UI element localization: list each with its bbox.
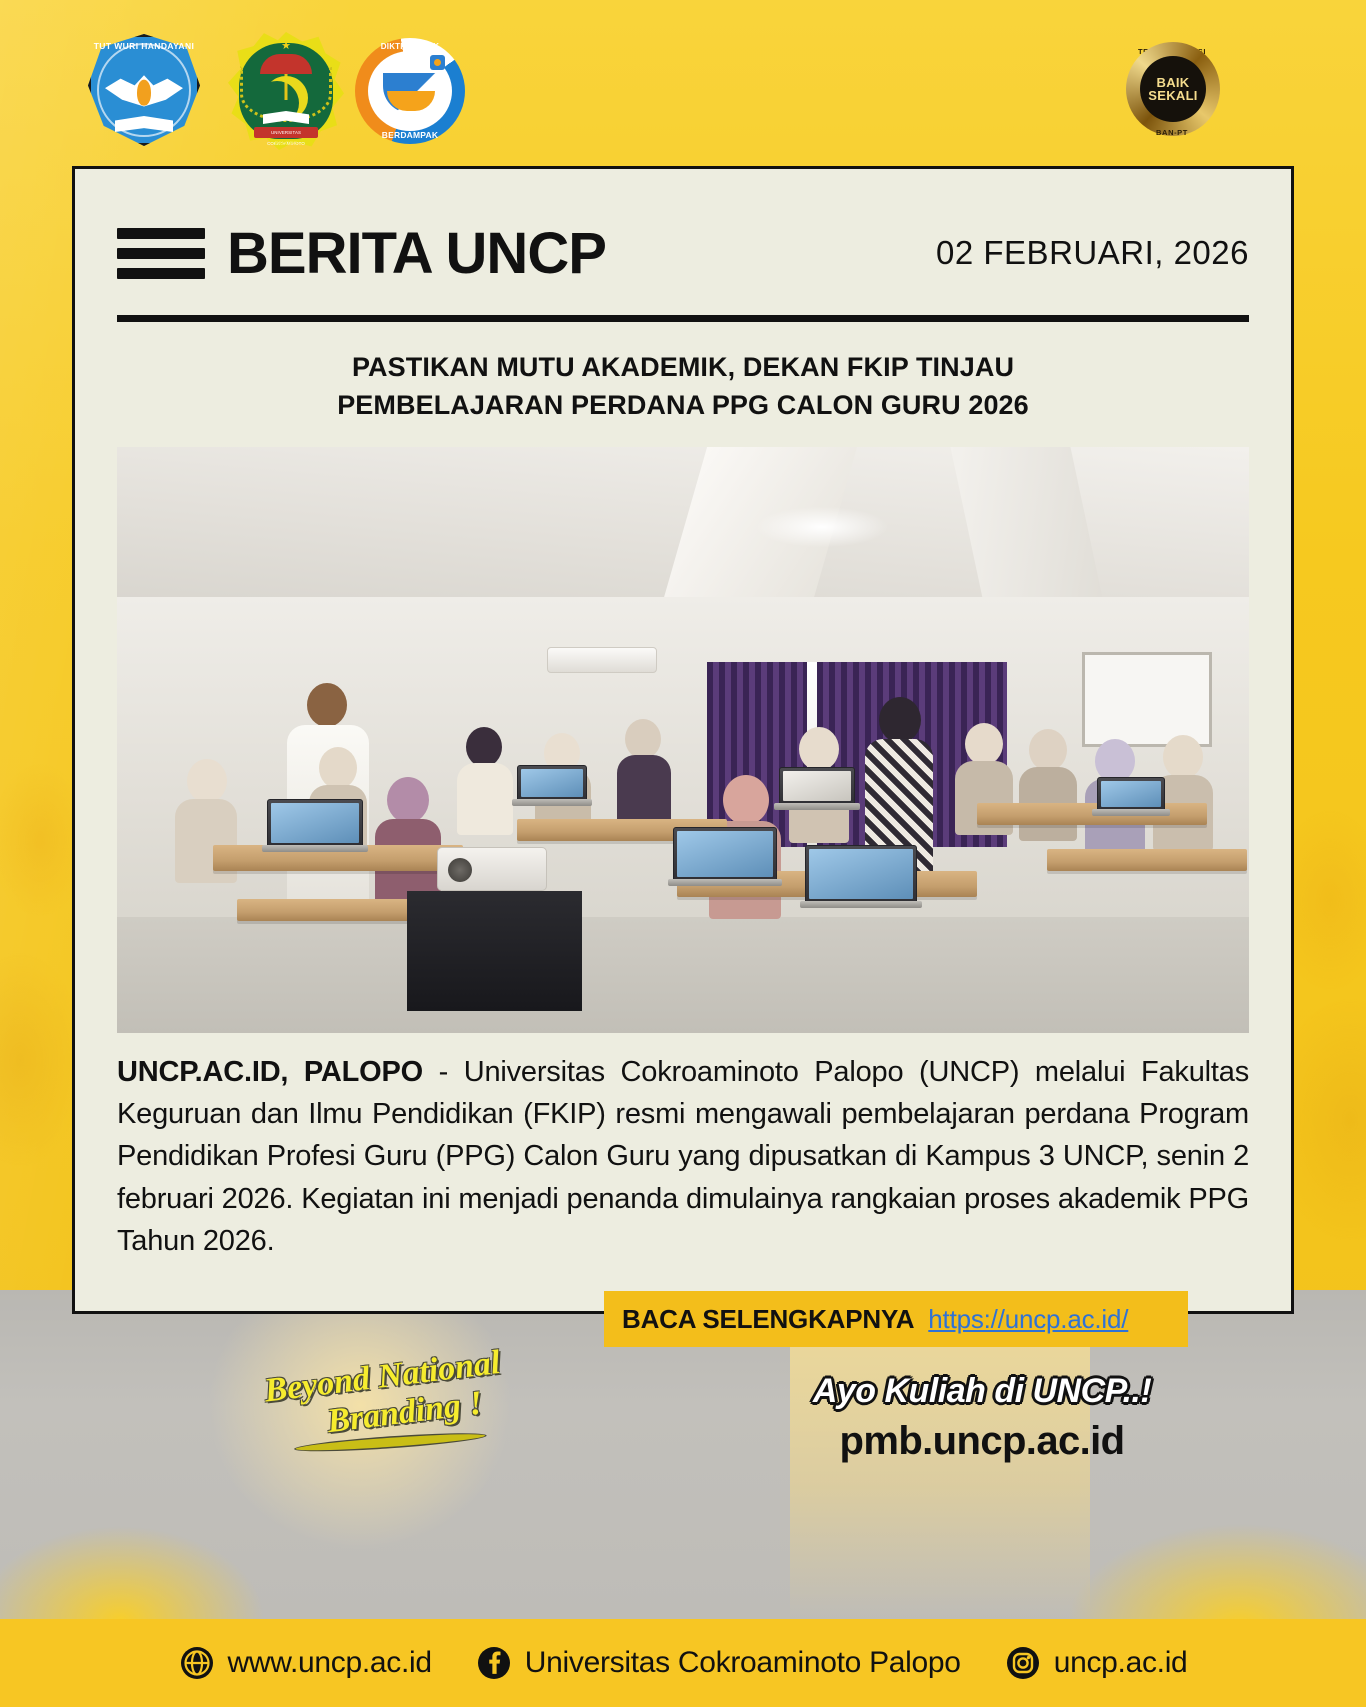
laptop	[805, 845, 917, 903]
read-more-label: BACA SELENGKAPNYA	[622, 1304, 914, 1335]
uncp-city-text: PALOPO	[228, 141, 344, 147]
headline-line-1: PASTIKAN MUTU AKADEMIK, DEKAN FKIP TINJA…	[117, 348, 1249, 386]
air-conditioner	[547, 647, 657, 673]
publish-date: 02 FEBRUARI, 2026	[936, 234, 1249, 272]
laptop	[267, 799, 363, 847]
article-dateline: UNCP.AC.ID, PALOPO	[117, 1056, 423, 1088]
card-header: BERITA UNCP 02 FEBRUARI, 2026	[117, 197, 1249, 309]
news-photo	[117, 447, 1249, 1033]
student	[617, 719, 671, 819]
logo-row: TUT WURI HANDAYANI ★ UNIVERSITAS COKROAM…	[0, 0, 1366, 160]
akreditasi-bottom-text: BAN-PT	[1106, 128, 1238, 137]
projector-table	[407, 891, 582, 1011]
whiteboard	[1082, 652, 1212, 747]
pmb-promo: Ayo Kuliah di UNCP..! pmb.uncp.ac.id	[782, 1372, 1182, 1464]
diktisaintek-top-text: DIKTISAINTEK	[355, 42, 465, 51]
article-separator: -	[423, 1056, 464, 1088]
laptop	[779, 767, 855, 805]
akreditasi-grade-line1: BAIK	[1157, 76, 1190, 89]
diktisaintek-berdampak-logo: DIKTISAINTEK BERDAMPAK	[355, 38, 465, 144]
student	[375, 777, 441, 903]
facebook-icon	[476, 1645, 512, 1681]
instagram-icon	[1005, 1645, 1041, 1681]
pmb-url: pmb.uncp.ac.id	[782, 1419, 1182, 1464]
desk	[1047, 849, 1247, 871]
read-more-link[interactable]: https://uncp.ac.id/	[928, 1304, 1128, 1335]
akreditasi-grade-line2: SEKALI	[1148, 89, 1197, 102]
footer-bar: www.uncp.ac.id Universitas Cokroaminoto …	[0, 1619, 1366, 1707]
footer-facebook-label: Universitas Cokroaminoto Palopo	[525, 1646, 961, 1680]
header-divider	[117, 315, 1249, 322]
news-card: BERITA UNCP 02 FEBRUARI, 2026 PASTIKAN M…	[72, 166, 1294, 1314]
projector	[437, 847, 547, 891]
ayo-kuliah-text: Ayo Kuliah di UNCP..!	[782, 1372, 1182, 1411]
footer-instagram-label: uncp.ac.id	[1054, 1646, 1188, 1680]
headline-line-2: PEMBELAJARAN PERDANA PPG CALON GURU 2026	[117, 386, 1249, 424]
laptop	[517, 765, 587, 801]
footer-instagram[interactable]: uncp.ac.id	[1005, 1645, 1188, 1681]
laptop	[673, 827, 777, 881]
uncp-ribbon-text: UNIVERSITAS COKROAMINOTO	[254, 127, 318, 138]
hamburger-icon	[117, 228, 205, 279]
footer-website-label: www.uncp.ac.id	[228, 1646, 432, 1680]
footer-facebook[interactable]: Universitas Cokroaminoto Palopo	[476, 1645, 961, 1681]
globe-icon	[179, 1645, 215, 1681]
student	[457, 727, 513, 831]
poster-root: TUT WURI HANDAYANI ★ UNIVERSITAS COKROAM…	[0, 0, 1366, 1707]
uncp-emblem-logo: ★ UNIVERSITAS COKROAMINOTO PALOPO	[228, 32, 344, 150]
footer-website[interactable]: www.uncp.ac.id	[179, 1645, 432, 1681]
headline: PASTIKAN MUTU AKADEMIK, DEKAN FKIP TINJA…	[117, 348, 1249, 425]
article-body: UNCP.AC.ID, PALOPO - Universitas Cokroam…	[117, 1051, 1249, 1263]
tut-wuri-handayani-logo: TUT WURI HANDAYANI	[88, 34, 200, 146]
read-more-bar[interactable]: BACA SELENGKAPNYA https://uncp.ac.id/	[604, 1291, 1188, 1347]
diktisaintek-bottom-text: BERDAMPAK	[355, 130, 465, 140]
laptop	[1097, 777, 1165, 811]
akreditasi-badge: TERAKREDITASI BAIK SEKALI BAN-PT	[1106, 26, 1238, 158]
page-title: BERITA UNCP	[227, 220, 606, 287]
